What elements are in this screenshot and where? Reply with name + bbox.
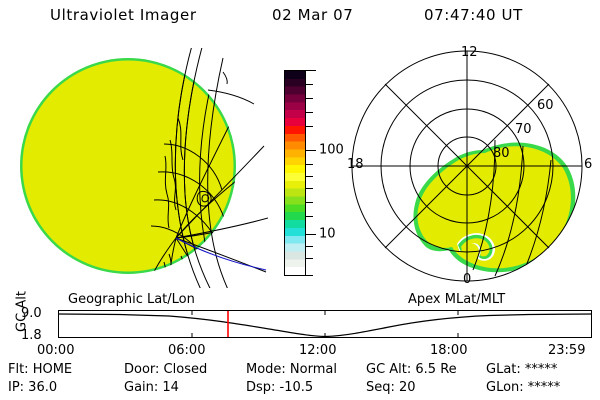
time-tick-2359: 23:59 [548,343,585,358]
orbit-altitude-curve [59,311,591,337]
gc-alt-tick-max: 9.0 [21,306,42,321]
mlt-label-12: 12 [461,45,478,60]
mlat-label-70: 70 [515,122,532,137]
time-tick-1800: 18:00 [430,343,467,358]
polar-dial-panel: 12 18 6 0 60 70 80 [345,44,595,292]
track-top-ticks [192,311,458,337]
time-tick-0000: 00:00 [37,343,74,358]
track-caption-geographic: Geographic Lat/Lon [68,292,195,307]
colorbar-tick-label-10: 10 [319,228,336,241]
colorbar-tick-axis: 100 10 [306,70,340,276]
orbit-altitude-plot[interactable] [58,310,592,338]
status-mode: Mode: Normal [246,362,337,377]
status-gc-alt: GC Alt: 6.5 Re [366,362,457,377]
mlat-label-80: 80 [493,146,510,161]
polar-mlat-mlt-plot [345,44,595,292]
header-bar: Ultraviolet Imager 02 Mar 07 07:47:40 UT [0,4,600,30]
status-row-secondary: IP: 36.0 Gain: 14 Dsp: -10.5 Seq: 20 GLo… [0,380,600,398]
instrument-title: Ultraviolet Imager [50,6,197,24]
status-seq: Seq: 20 [366,380,416,395]
polar-grid [352,51,582,281]
observation-time: 07:47:40 UT [424,6,523,24]
status-ip: IP: 36.0 [8,380,57,395]
status-flight: Flt: HOME [8,362,72,377]
colorbar-panel: photon cm-2s-1 100 10 [262,52,340,292]
status-row-primary: Flt: HOME Door: Closed Mode: Normal GC A… [0,362,600,380]
mlt-label-0: 0 [463,272,471,287]
time-tick-0600: 06:00 [168,343,205,358]
status-dsp: Dsp: -10.5 [246,380,313,395]
mlt-label-18: 18 [347,157,364,172]
colorbar-tick-label-100: 100 [319,144,344,157]
status-door: Door: Closed [124,362,207,377]
status-block: Flt: HOME Door: Closed Mode: Normal GC A… [0,362,600,400]
earth-disk-uv-image [18,48,268,288]
gc-alt-tick-min: 1.8 [21,328,42,343]
observation-date: 02 Mar 07 [272,6,353,24]
status-glon: GLon: ***** [486,380,560,395]
time-axis: 00:00 06:00 12:00 18:00 23:59 [0,343,600,359]
colorbar-gradient-strip [284,70,306,276]
mlt-label-6: 6 [584,157,592,172]
status-gain: Gain: 14 [124,380,179,395]
status-glat: GLat: ***** [486,362,557,377]
time-tick-1200: 12:00 [299,343,336,358]
earth-disk-panel [18,48,268,288]
mlat-label-60: 60 [537,98,554,113]
track-caption-apex: Apex MLat/MLT [408,292,505,307]
disk-body [23,61,234,272]
